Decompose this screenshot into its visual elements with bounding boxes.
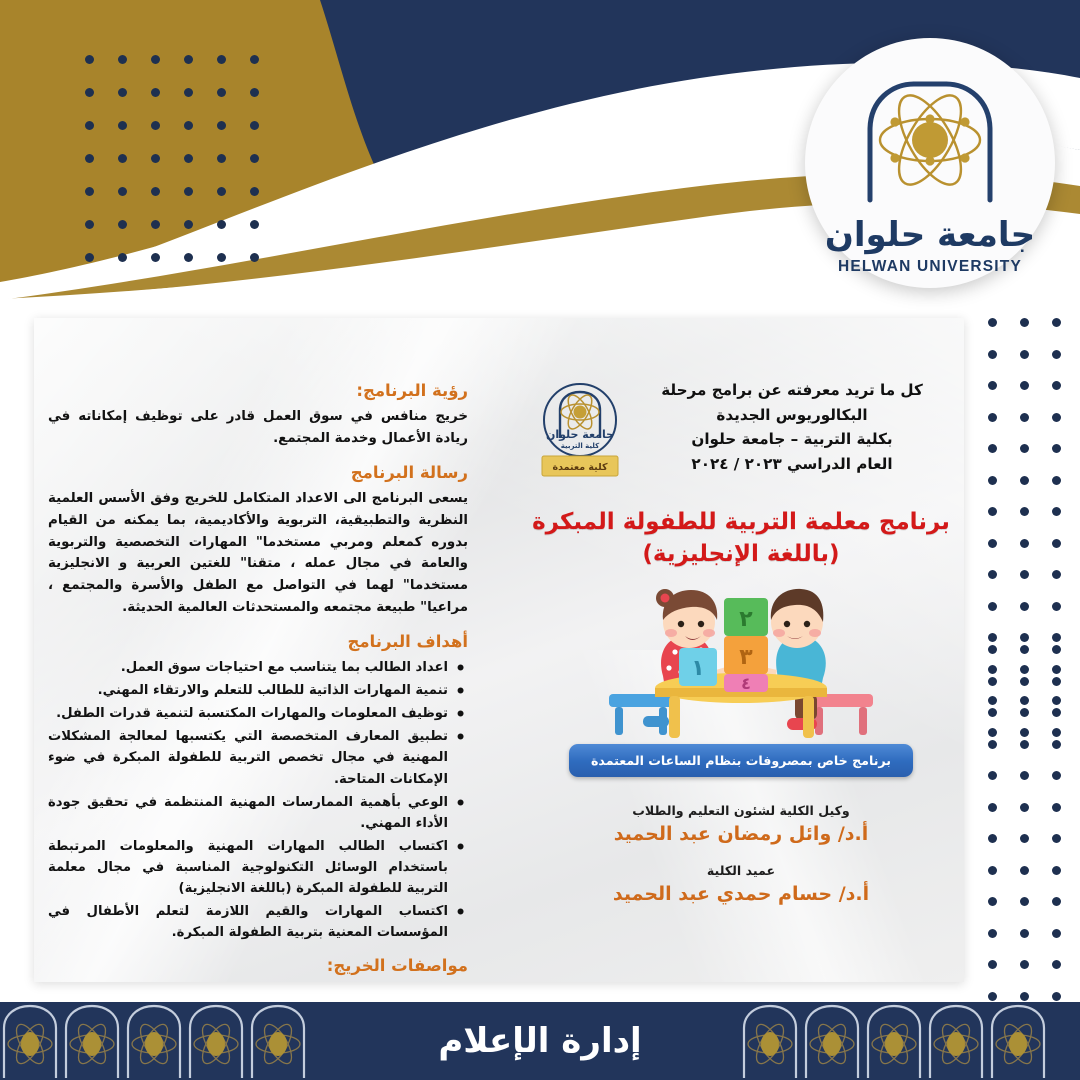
intro-line-2: البكالوريوس الجديدة <box>634 403 950 428</box>
objectives-list: اعداد الطالب بما يتناسب مع احتياجات سوق … <box>48 657 468 944</box>
intro-line-1: كل ما تريد معرفته عن برامج مرحلة <box>634 378 950 403</box>
poster-canvas: جامعة حلوان HELWAN UNIVERSITY <box>0 0 1080 1080</box>
mission-body: يسعى البرنامج الى الاعداد المتكامل للخري… <box>48 488 468 618</box>
mission-heading: رسالة البرنامج <box>48 462 468 483</box>
list-item: توظيف المعلومات والمهارات المكتسبة لتنمي… <box>48 703 468 724</box>
objectives-heading: أهداف البرنامج <box>48 631 468 652</box>
signature-role-vice-dean: وكيل الكلية لشئون التعليم والطلاب <box>532 803 950 818</box>
card-header-row: كل ما تريد معرفته عن برامج مرحلة البكالو… <box>532 376 950 484</box>
svg-text:٢: ٢ <box>739 607 753 632</box>
list-item: تطبيق المعارف المتخصصة التي يكتسبها لمعا… <box>48 726 468 789</box>
vision-body: خريج منافس في سوق العمل قادر على توظيف إ… <box>48 406 468 449</box>
signature-role-dean: عميد الكلية <box>532 863 950 878</box>
svg-text:جامعة حلوان: جامعة حلوان <box>546 428 614 441</box>
list-item: اكتساب الطالب المهارات المهنية والمعلوما… <box>48 836 468 899</box>
helwan-university-logo-badge: جامعة حلوان HELWAN UNIVERSITY <box>805 38 1055 288</box>
children-playing-blocks-illustration: ٢ ٣ ٤ ١ <box>591 576 891 748</box>
decorative-dot-grid-right-lower <box>988 645 1080 1064</box>
list-item: الوعي بأهمية الممارسات المهنية المنتظمة … <box>48 792 468 834</box>
svg-text:٤: ٤ <box>741 674 751 693</box>
svg-text:١: ١ <box>691 656 704 681</box>
program-info-card: كل ما تريد معرفته عن برامج مرحلة البكالو… <box>34 318 964 982</box>
footer-pattern-right <box>730 1002 1080 1080</box>
program-title: برنامج معلمة التربية للطفولة المبكرة (با… <box>532 506 950 570</box>
graduate-specs-heading: مواصفات الخريج: <box>48 955 468 976</box>
list-item: اعداد الطالب بما يتناسب مع احتياجات سوق … <box>48 657 468 678</box>
footer-title: إدارة الإعلام <box>438 1021 641 1061</box>
list-item: تنمية المهارات الذاتية للطالب للتعلم وال… <box>48 680 468 701</box>
footer-bar: إدارة الإعلام <box>0 1002 1080 1080</box>
svg-text:٣: ٣ <box>739 645 753 670</box>
logo-name-arabic: جامعة حلوان <box>805 218 1055 252</box>
decorative-dot-grid-top-left <box>85 55 259 262</box>
card-right-column: رؤية البرنامج: خريج منافس في سوق العمل ق… <box>34 318 504 982</box>
card-left-column: كل ما تريد معرفته عن برامج مرحلة البكالو… <box>504 318 964 982</box>
graduate-specs-intro: إلى جانب المواصفات العامة لخريج كلية الت… <box>48 981 468 982</box>
credit-hours-note-badge: برنامج خاص بمصروفات بنظام الساعات المعتم… <box>569 744 913 777</box>
signatures-block: وكيل الكلية لشئون التعليم والطلاب أ.د/ و… <box>532 803 950 923</box>
intro-line-4: العام الدراسي ٢٠٢٣ / ٢٠٢٤ <box>634 452 950 477</box>
svg-text:كلية معتمدة: كلية معتمدة <box>553 462 608 473</box>
list-item: اكتساب المهارات والقيم اللازمة لتعلم الأ… <box>48 901 468 943</box>
signature-name-dean: أ.د/ حسام حمدي عبد الحميد <box>532 883 950 905</box>
program-title-line-1: برنامج معلمة التربية للطفولة المبكرة <box>532 506 950 538</box>
vision-heading: رؤية البرنامج: <box>48 380 468 401</box>
svg-text:كلية التربية: كلية التربية <box>561 442 600 450</box>
faculty-accreditation-seal: جامعة حلوان كلية التربية كلية معتمدة <box>532 376 628 484</box>
logo-name-english: HELWAN UNIVERSITY <box>805 258 1055 276</box>
program-title-line-2: (باللغة الإنجليزية) <box>532 538 950 570</box>
footer-pattern-left <box>0 1002 350 1080</box>
intro-heading: كل ما تريد معرفته عن برامج مرحلة البكالو… <box>634 376 950 477</box>
intro-line-3: بكلية التربية – جامعة حلوان <box>634 427 950 452</box>
signature-name-vice-dean: أ.د/ وائل رمضان عبد الحميد <box>532 823 950 845</box>
